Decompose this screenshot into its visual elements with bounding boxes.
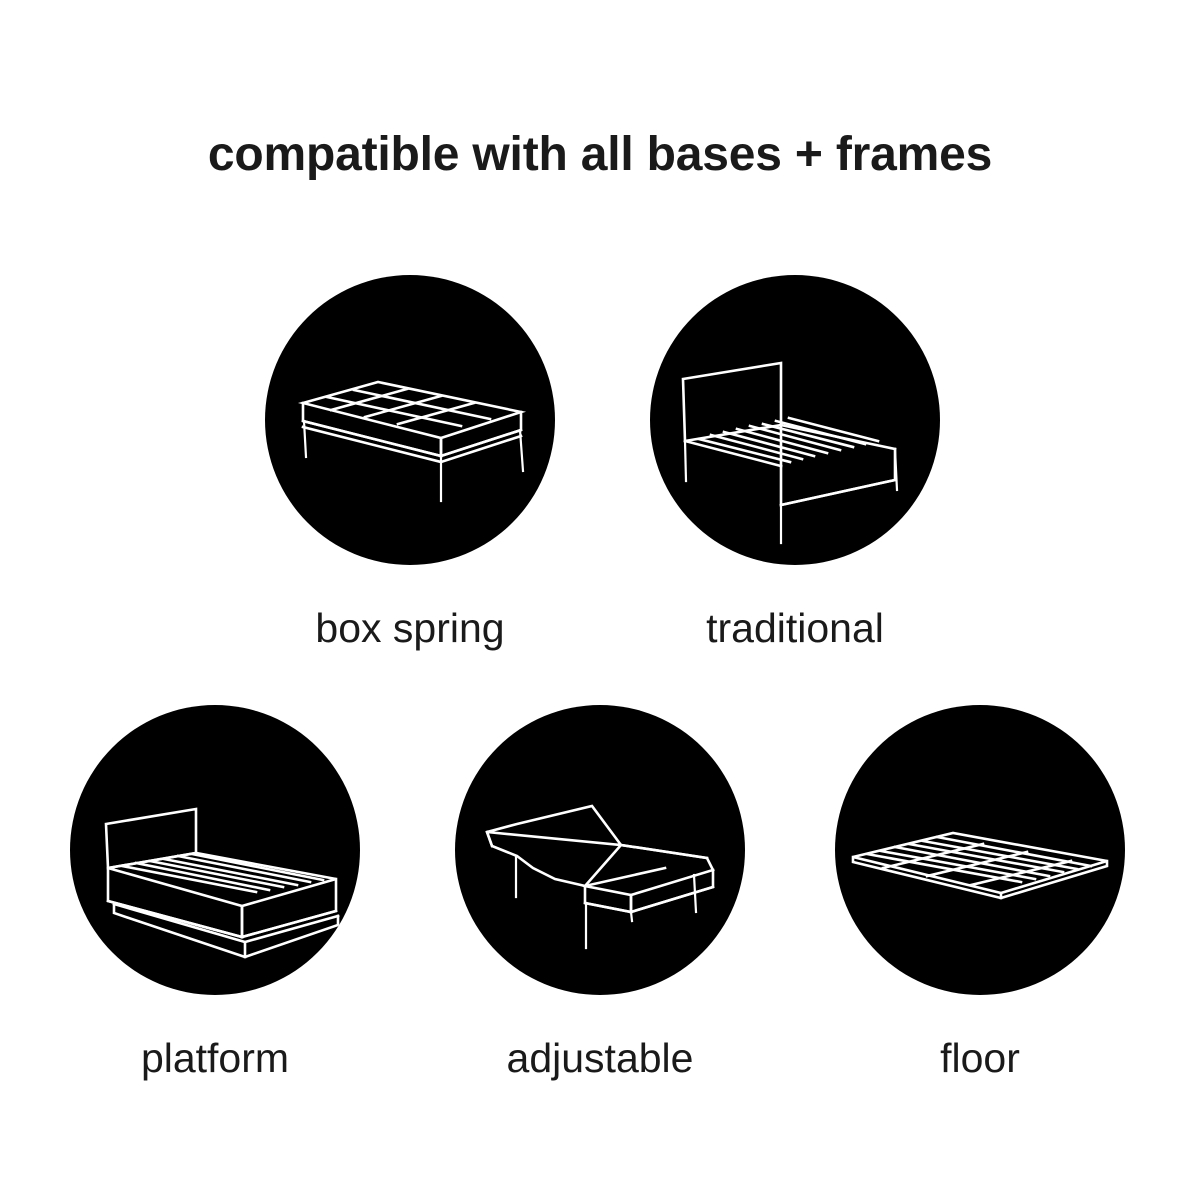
base-option-label: floor (775, 1038, 1185, 1079)
base-option-floor[interactable]: floor (835, 705, 1125, 995)
icon-circle (650, 275, 940, 565)
base-option-label: box spring (205, 608, 615, 649)
base-option-adjustable[interactable]: adjustable (455, 705, 745, 995)
icon-circle (455, 705, 745, 995)
base-option-label: adjustable (395, 1038, 805, 1079)
base-option-platform[interactable]: platform (70, 705, 360, 995)
base-option-box-spring[interactable]: box spring (265, 275, 555, 565)
box-spring-bed-icon (265, 275, 555, 565)
floor-slat-grid-icon (835, 705, 1125, 995)
traditional-bed-frame-icon (650, 275, 940, 565)
icon-circle (835, 705, 1125, 995)
platform-bed-icon (70, 705, 360, 995)
adjustable-base-icon (455, 705, 745, 995)
base-option-traditional[interactable]: traditional (650, 275, 940, 565)
compatibility-infographic: compatible with all bases + frames (0, 0, 1200, 1200)
base-option-label: traditional (590, 608, 1000, 649)
base-option-label: platform (10, 1038, 420, 1079)
icon-circle (70, 705, 360, 995)
icon-circle (265, 275, 555, 565)
page-title: compatible with all bases + frames (0, 131, 1200, 179)
